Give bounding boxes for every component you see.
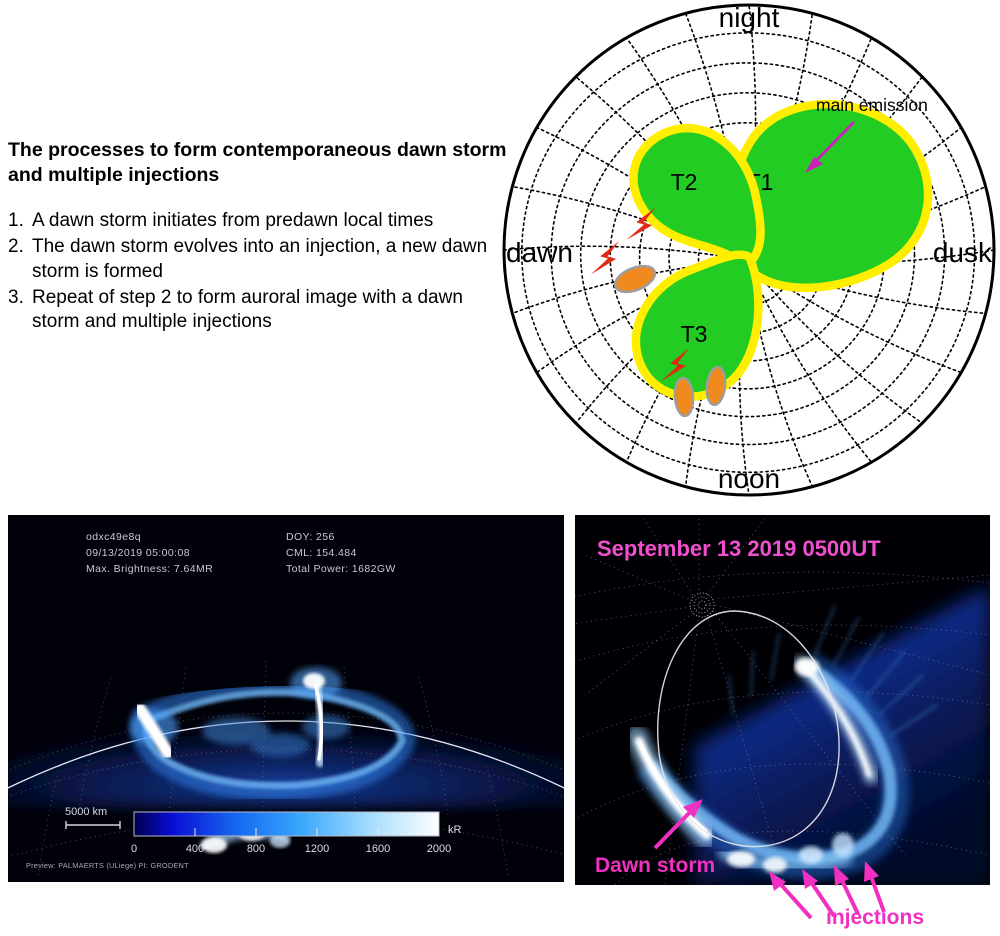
process-steps-list: 1. A dawn storm initiates from predawn l… <box>8 209 508 335</box>
colorbar-tick: 1200 <box>305 843 329 855</box>
colorbar-tick: 800 <box>247 843 265 855</box>
metadata-line: CML: 154.484 <box>286 547 357 559</box>
colorbar-tick: 400 <box>186 843 204 855</box>
lobe-T1: T1 <box>738 108 924 283</box>
page-title: The processes to form contemporaneous da… <box>8 138 508 187</box>
step-text: The dawn storm evolves into an injection… <box>32 235 508 284</box>
list-item: 2. The dawn storm evolves into an inject… <box>8 235 508 284</box>
scale-bar-label: 5000 km <box>65 806 107 818</box>
list-item: 3. Repeat of step 2 to form auroral imag… <box>8 286 508 335</box>
lobe-T3-label: T3 <box>681 321 708 347</box>
step-number: 3. <box>8 286 32 335</box>
explanatory-text-block: The processes to form contemporaneous da… <box>8 138 508 337</box>
step-text: A dawn storm initiates from predawn loca… <box>32 209 508 233</box>
colorbar-tick: 1600 <box>366 843 390 855</box>
step-number: 1. <box>8 209 32 233</box>
lobe-T2-label: T2 <box>671 169 698 195</box>
colorbar-tick: 2000 <box>427 843 451 855</box>
label-night: night <box>719 2 780 33</box>
metadata-line: odxc49e8q <box>86 531 141 543</box>
injections-label: injections <box>826 906 924 929</box>
label-noon: noon <box>718 463 780 494</box>
colorbar-tick: 0 <box>131 843 137 855</box>
metadata-line: DOY: 256 <box>286 531 335 543</box>
auroral-image-right-panel <box>575 515 990 885</box>
label-dawn: dawn <box>506 237 573 268</box>
metadata-line: Total Power: 1682GW <box>286 563 396 575</box>
list-item: 1. A dawn storm initiates from predawn l… <box>8 209 508 233</box>
label-dusk: dusk <box>933 237 993 268</box>
metadata-line: 09/13/2019 05:00:08 <box>86 547 190 559</box>
polar-schematic-diagram: T1 T2 T3 main emission night noon dawn d… <box>498 0 1000 494</box>
metadata-line: Max. Brightness: 7.64MR <box>86 563 213 575</box>
auroral-image-left-panel: odxc49e8q 09/13/2019 05:00:08 Max. Brigh… <box>8 515 564 882</box>
main-emission-label: main emission <box>816 95 928 115</box>
step-text: Repeat of step 2 to form auroral image w… <box>32 286 508 335</box>
colorbar-unit-label: kR <box>448 824 462 836</box>
step-number: 2. <box>8 235 32 284</box>
credit-line: Preview: PALMAERTS (ULiege) PI: GRODENT <box>26 861 189 870</box>
